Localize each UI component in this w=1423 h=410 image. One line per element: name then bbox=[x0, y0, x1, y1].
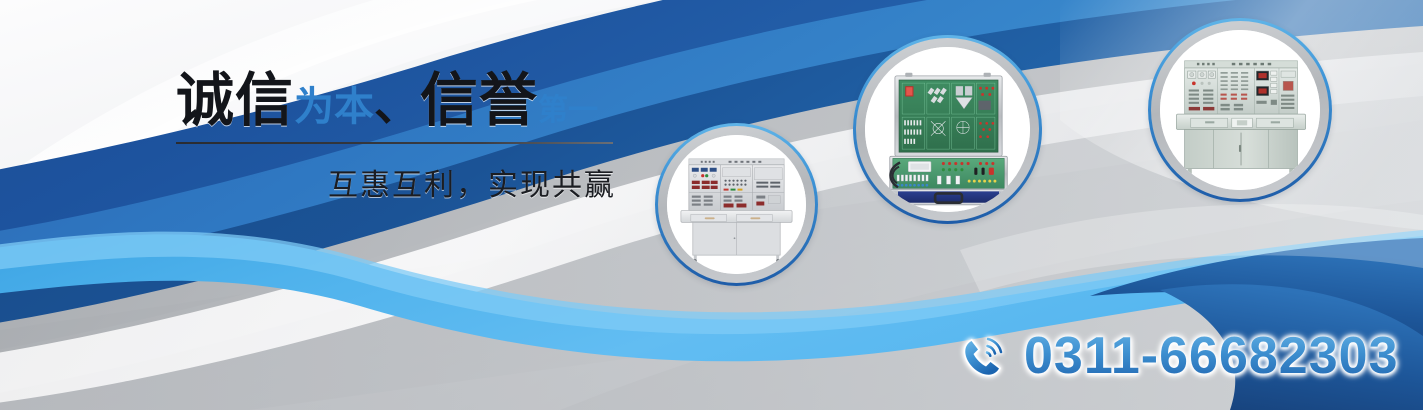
slogan-part-1: 诚信 bbox=[176, 68, 294, 133]
slogan-part-3: 信誉 bbox=[420, 68, 538, 133]
phone-number[interactable]: 0311-66682303 bbox=[1024, 326, 1399, 386]
electrical-training-workbench-image bbox=[667, 135, 806, 274]
slogan-part-2: 为本 bbox=[294, 85, 374, 129]
portable-electronics-training-case-image bbox=[865, 47, 1030, 212]
slogan-part-4: 第一 bbox=[538, 94, 598, 127]
promo-banner: 诚信为本、信誉第一 互惠互利，实现共赢 bbox=[0, 0, 1423, 410]
slogan-divider bbox=[176, 142, 613, 144]
product-photo-circle-1 bbox=[655, 123, 818, 286]
slogan-punctuation: 、 bbox=[374, 78, 420, 130]
product-photo-circle-2 bbox=[853, 35, 1042, 224]
circle-gray-ring-1 bbox=[658, 126, 815, 283]
circle-gray-ring-2 bbox=[856, 38, 1039, 221]
product-photo-circle-3 bbox=[1148, 18, 1332, 202]
contact-block[interactable]: 0311-66682303 bbox=[958, 326, 1399, 386]
circle-inner-1 bbox=[667, 135, 806, 274]
slogan-subtitle: 互惠互利，实现共赢 bbox=[176, 160, 616, 204]
phone-call-icon[interactable] bbox=[958, 330, 1010, 382]
circle-gray-ring-3 bbox=[1151, 21, 1329, 199]
circle-inner-3 bbox=[1160, 30, 1320, 190]
circle-inner-2 bbox=[865, 47, 1030, 212]
main-slogan: 诚信为本、信誉第一 bbox=[176, 72, 616, 130]
electrical-test-bench-image bbox=[1160, 30, 1320, 190]
slogan-block: 诚信为本、信誉第一 互惠互利，实现共赢 bbox=[176, 72, 616, 204]
